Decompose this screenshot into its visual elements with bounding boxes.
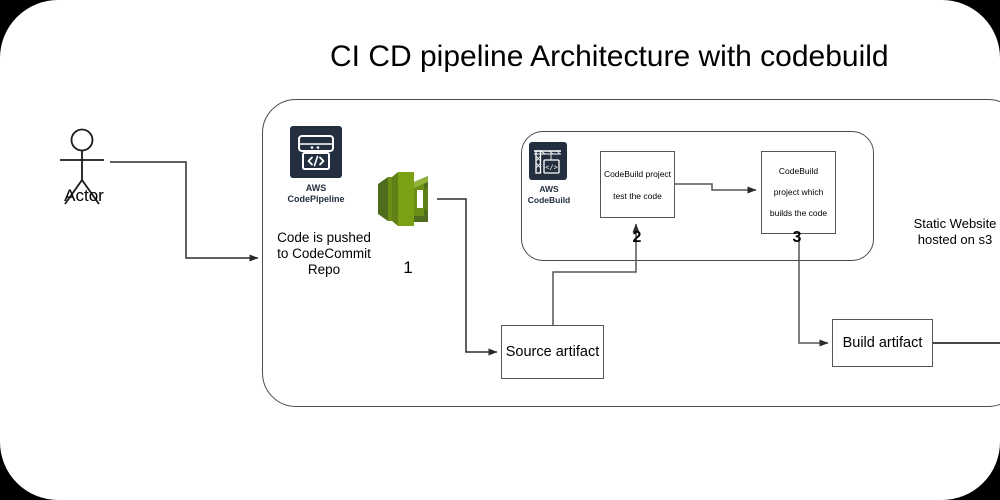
test-project-line1: CodeBuild project xyxy=(604,163,671,185)
source-artifact-label: Source artifact xyxy=(506,344,600,360)
aws-codebuild-label: AWS CodeBuild xyxy=(513,184,585,205)
diagram-canvas: CI CD pipeline Architecture with codebui… xyxy=(0,0,1000,500)
step-number-2: 2 xyxy=(622,229,652,247)
arrow-codecommit-to-source-artifact xyxy=(437,199,497,352)
aws-codepipeline-label: AWS CodePipeline xyxy=(268,183,364,205)
build-project-line1: CodeBuild xyxy=(779,161,818,182)
static-website-line1: Static Website xyxy=(895,216,1000,232)
build-project-line3: builds the code xyxy=(770,203,827,224)
actor-label: Actor xyxy=(38,186,130,206)
static-website-note: Static Website hosted on s3 xyxy=(895,216,1000,248)
arrow-actor-to-pipeline xyxy=(110,162,258,258)
diagram-content: CI CD pipeline Architecture with codebui… xyxy=(0,0,1000,500)
step-number-3: 3 xyxy=(782,229,812,247)
code-pushed-note: Code is pushed to CodeCommit Repo xyxy=(265,230,383,278)
source-artifact-box[interactable]: Source artifact xyxy=(501,325,604,379)
code-pushed-line2: to CodeCommit xyxy=(265,246,383,262)
connector-lines xyxy=(0,0,1000,500)
aws-codebuild-icon: </> xyxy=(529,142,567,180)
svg-text:</>: </> xyxy=(545,164,558,172)
aws-codecommit-green-icon xyxy=(376,168,438,230)
codepipeline-label-line1: AWS xyxy=(268,183,364,194)
arrow-build-project-to-build-artifact xyxy=(799,234,828,343)
aws-codepipeline-icon xyxy=(290,126,342,178)
codebuild-label-line1: AWS xyxy=(513,184,585,195)
build-project-line2: project which xyxy=(774,182,824,203)
test-project-line2: test the code xyxy=(613,185,662,207)
build-artifact-label: Build artifact xyxy=(843,335,923,351)
codebuild-label-line2: CodeBuild xyxy=(513,195,585,206)
arrow-test-project-to-build-project xyxy=(675,184,756,190)
build-artifact-box[interactable]: Build artifact xyxy=(832,319,933,367)
step-number-1: 1 xyxy=(388,258,428,278)
codebuild-build-project-box[interactable]: CodeBuild project which builds the code xyxy=(761,151,836,234)
code-pushed-line1: Code is pushed xyxy=(265,230,383,246)
codebuild-test-project-box[interactable]: CodeBuild project test the code xyxy=(600,151,675,218)
static-website-line2: hosted on s3 xyxy=(895,232,1000,248)
codepipeline-label-line2: CodePipeline xyxy=(268,194,364,205)
code-pushed-line3: Repo xyxy=(265,262,383,278)
